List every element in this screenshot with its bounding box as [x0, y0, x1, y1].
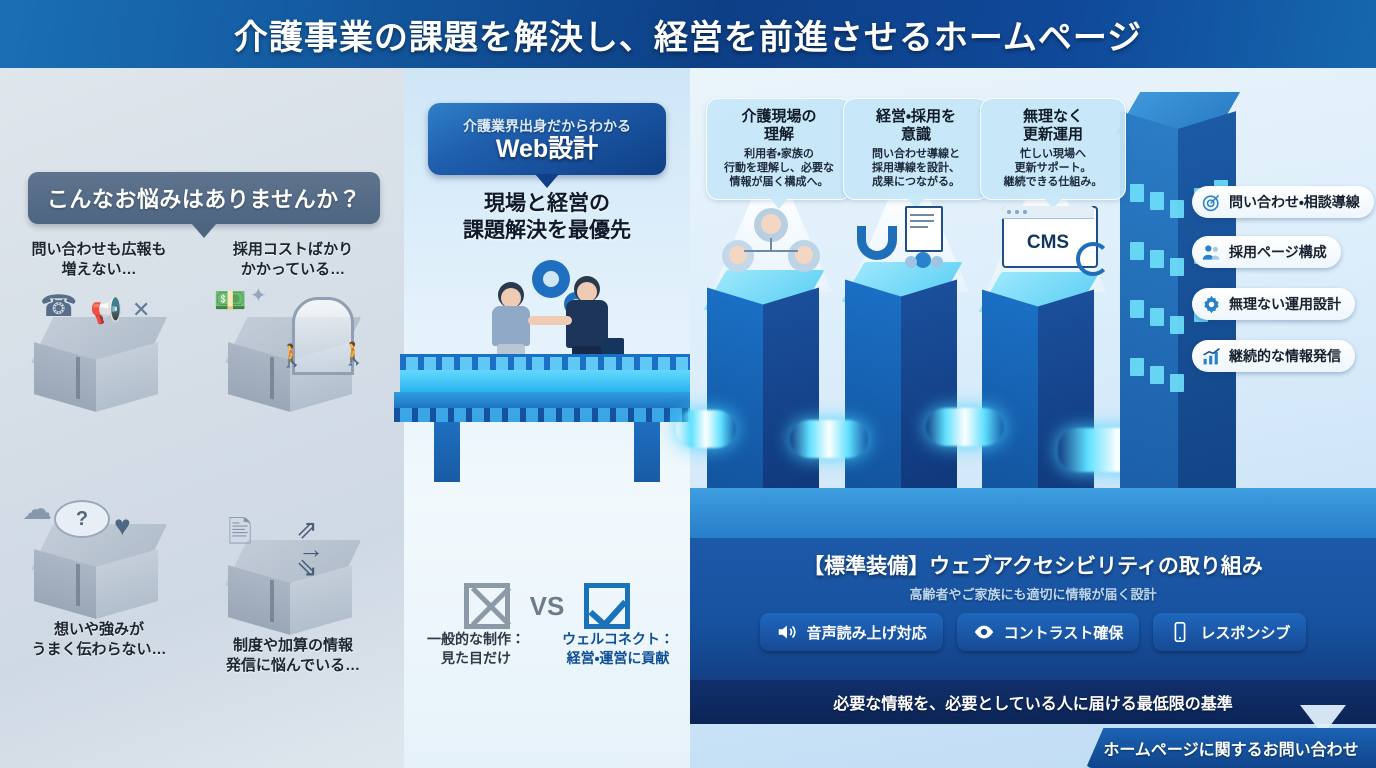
accessibility-pill-3[interactable]: レスポンシブ: [1153, 613, 1306, 651]
bridge-deck-upper: [400, 370, 694, 392]
accessibility-subtitle: 高齢者やご家族にも適切に情報が届く設計: [690, 584, 1376, 603]
accessibility-pill-2[interactable]: コントラスト確保: [957, 613, 1140, 651]
compare-right-label: ウェルコネクト：経営・運営に貢献: [554, 630, 682, 668]
chart-growth-icon: [1202, 347, 1221, 366]
badge-2-label: 採用ページ構成: [1229, 242, 1327, 262]
speaker-icon: [776, 621, 798, 643]
cross-box-icon: [464, 583, 510, 629]
phone-megaphone-x-icon: ☎ 📢 ✕: [6, 285, 192, 405]
cracked-block: [28, 317, 170, 403]
feature-card-2-title: 経営・採用を意識: [850, 108, 982, 144]
contact-cta-button[interactable]: ホームページに関するお問い合わせ: [1086, 728, 1376, 768]
energy-flow-2: [926, 408, 1004, 446]
people-network-icon: [706, 204, 838, 280]
cms-refresh-window-icon: CMS: [980, 204, 1112, 280]
accessibility-pill-1-label: 音声読み上げ対応: [807, 622, 927, 643]
pillar-1: [705, 270, 823, 520]
pain-label-3: 想いや強みがうまく伝わらない…: [6, 620, 192, 661]
accessibility-pill-2-label: コントラスト確保: [1004, 622, 1124, 643]
page-header: 介護事業の課題を解決し、経営を前進させるホームページ: [0, 0, 1376, 68]
cracked-block: [28, 524, 170, 610]
accessibility-pills: 音声読み上げ対応 コントラスト確保 レスポンシブ: [690, 613, 1376, 651]
contact-cta-label: ホームページに関するお問い合わせ: [1103, 736, 1358, 760]
infographic-root: 介護事業の課題を解決し、経営を前進させるホームページ こんなお悩みはありませんか…: [0, 0, 1376, 768]
badge-3-label: 無理ない運用設計: [1229, 294, 1341, 314]
worry-bubble-label: こんなお悩みはありませんか？: [47, 182, 361, 214]
accessibility-pill-3-label: レスポンシブ: [1200, 622, 1290, 643]
compare-left-label: 一般的な制作：見た目だけ: [412, 630, 540, 668]
bridge-pier-right: [634, 422, 660, 482]
people-group-icon: [1202, 243, 1221, 262]
mobile-icon: [1169, 621, 1191, 643]
energy-flow-1: [790, 420, 868, 458]
pain-label-2: 採用コストばかりかかっている…: [200, 240, 386, 281]
pillar-3: [980, 272, 1098, 522]
accessibility-title: 【標準装備】ウェブアクセシビリティの取り組み: [690, 550, 1376, 580]
web-bubble-line2: Web設計: [496, 136, 598, 162]
paper-stack-arrows-icon: 🖹 ⇗ → ⇘: [200, 508, 386, 628]
energy-flow-0: [676, 410, 736, 448]
thought-cloud-heart-icon: ☁ ? ♥: [6, 492, 192, 612]
feature-card-1-body: 利用者・家族の行動を理解し、必要な情報が届く構成へ。: [713, 148, 845, 189]
web-design-bubble: 介護業界出身だからわかる Web設計: [428, 103, 666, 175]
pain-item-1: 問い合わせも広報も増えない… ☎ 📢 ✕: [6, 240, 192, 405]
pain-label-4: 制度や加算の情報発信に悩んでいる…: [200, 636, 386, 677]
feature-card-1: 介護現場の理解 利用者・家族の行動を理解し、必要な情報が届く構成へ。: [706, 98, 852, 200]
flying-money-revolving-door-icon: 💵 ✦ 🚶 🚶: [200, 285, 386, 405]
feature-card-1-title: 介護現場の理解: [713, 108, 845, 144]
bridge-rail-lower: [394, 408, 700, 422]
magnet-document-people-icon: [843, 204, 975, 280]
pain-item-4: 🖹 ⇗ → ⇘ 制度や加算の情報発信に悩んでいる…: [200, 508, 386, 677]
problems-panel: こんなお悩みはありませんか？ 問い合わせも広報も増えない… ☎ 📢 ✕ 採用コス…: [0, 68, 404, 768]
accessibility-panel: 【標準装備】ウェブアクセシビリティの取り組み 高齢者やご家族にも適切に情報が届く…: [690, 538, 1376, 680]
eye-icon: [973, 621, 995, 643]
pain-item-3: ☁ ? ♥ 想いや強みがうまく伝わらない…: [6, 492, 192, 661]
badge-4[interactable]: 継続的な情報発信: [1192, 340, 1355, 372]
bridge-pier-left: [434, 422, 460, 482]
solution-subtitle: 現場と経営の課題解決を最優先: [404, 190, 690, 245]
page-title: 介護事業の課題を解決し、経営を前進させるホームページ: [234, 10, 1142, 59]
feature-card-3-title: 無理なく更新運用: [987, 108, 1119, 144]
badge-3[interactable]: 無理ない運用設計: [1192, 288, 1355, 320]
feature-card-2: 経営・採用を意識 問い合わせ導線と採用導線を設計、成果につながる。: [843, 98, 989, 200]
vs-label: VS: [530, 591, 565, 622]
badge-1-label: 問い合わせ・相談導線: [1229, 192, 1360, 212]
gear-icon: [1202, 295, 1221, 314]
worry-bubble: こんなお悩みはありませんか？: [28, 172, 380, 224]
comparison-labels: 一般的な制作：見た目だけ ウェルコネクト：経営・運営に貢献: [404, 630, 690, 668]
check-box-icon: [584, 583, 630, 629]
pain-label-1: 問い合わせも広報も増えない…: [6, 240, 192, 281]
pain-item-2: 採用コストばかりかかっている… 💵 ✦ 🚶 🚶: [200, 240, 386, 405]
pillar-2: [843, 262, 961, 512]
feature-card-3-body: 忙しい現場へ更新サポート。継続できる仕組み。: [987, 148, 1119, 189]
badge-2[interactable]: 採用ページ構成: [1192, 236, 1341, 268]
accessibility-footnote-label: 必要な情報を、必要としている人に届ける最低限の基準: [833, 690, 1233, 714]
badge-1[interactable]: 問い合わせ・相談導線: [1192, 186, 1374, 218]
web-bubble-line1: 介護業界出身だからわかる: [463, 116, 631, 136]
accessibility-footnote: 必要な情報を、必要としている人に届ける最低限の基準: [690, 680, 1376, 724]
handshake-hands: [528, 316, 572, 325]
target-arrow-icon: [1202, 193, 1221, 212]
feature-card-3: 無理なく更新運用 忙しい現場へ更新サポート。継続できる仕組み。: [980, 98, 1126, 200]
badge-4-label: 継続的な情報発信: [1229, 346, 1341, 366]
handshake-bridge-gears-icon: [404, 250, 690, 460]
comparison-icons: VS: [404, 578, 690, 634]
feature-card-2-body: 問い合わせ導線と採用導線を設計、成果につながる。: [850, 148, 982, 189]
accessibility-pill-1[interactable]: 音声読み上げ対応: [760, 613, 943, 651]
